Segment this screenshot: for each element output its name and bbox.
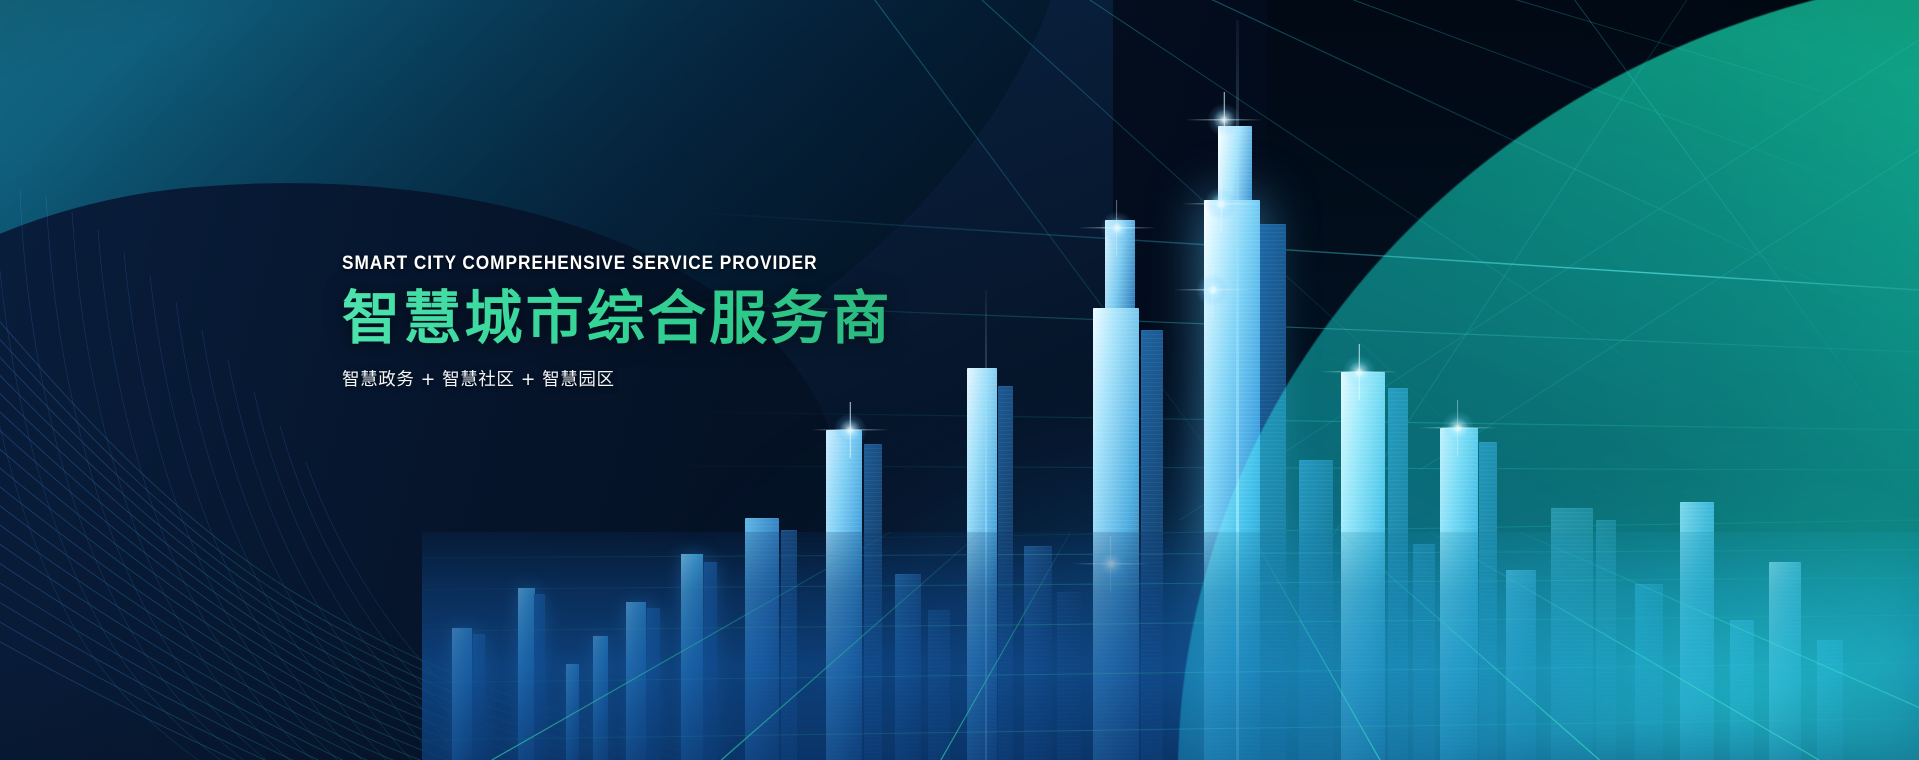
hero-headline: 智慧城市综合服务商 (342, 287, 1102, 350)
hero-subline: 智慧政务 + 智慧社区 + 智慧园区 (342, 366, 1102, 391)
hero-eyebrow: SMART CITY COMPREHENSIVE SERVICE PROVIDE… (342, 252, 1015, 275)
smart-city-hero-banner: SMART CITY COMPREHENSIVE SERVICE PROVIDE… (0, 0, 1919, 760)
right-green-haze (1151, 319, 1919, 760)
hero-copy-block: SMART CITY COMPREHENSIVE SERVICE PROVIDE… (342, 252, 1102, 391)
